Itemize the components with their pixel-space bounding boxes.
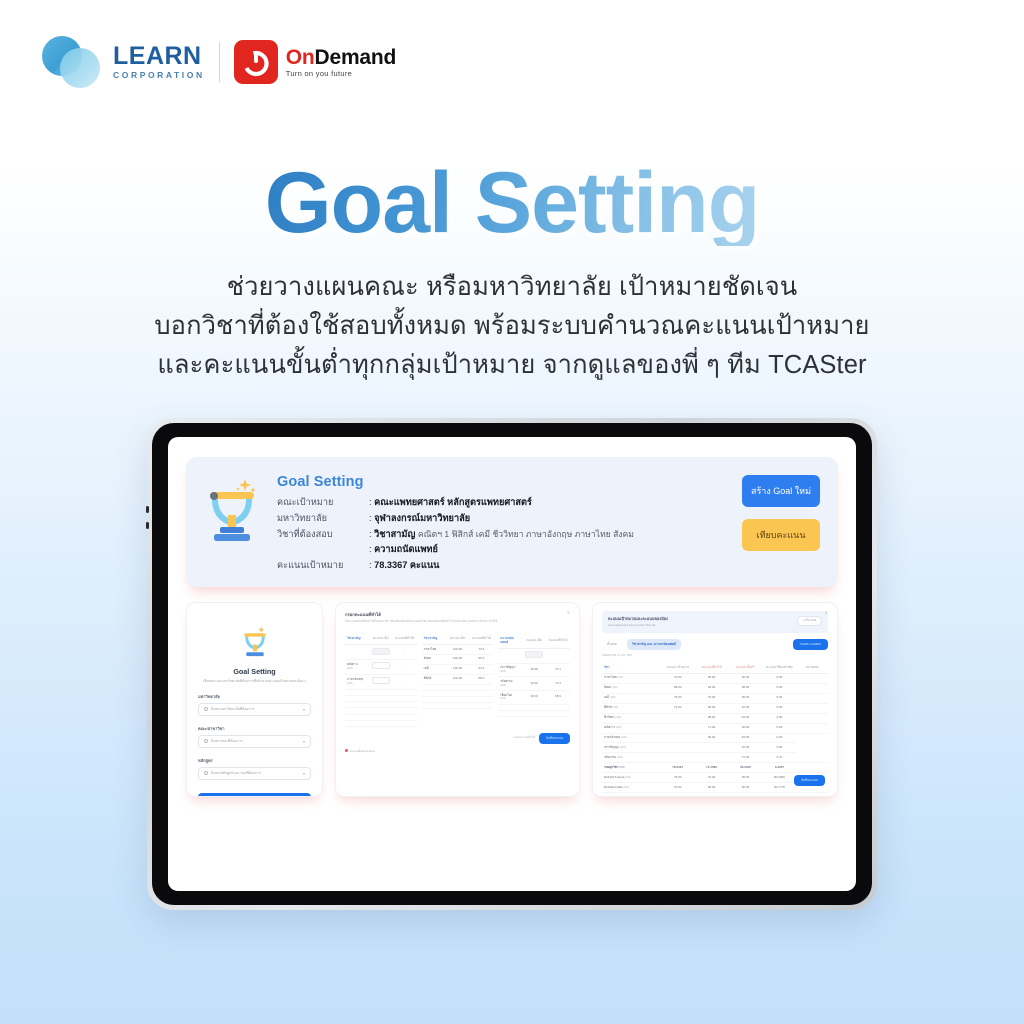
logo-divider <box>219 42 220 82</box>
subject-name: คณิตฯ 1 <box>604 725 615 729</box>
form-field-program-label: หลักสูตร <box>198 757 311 764</box>
score-group-2-name: วิชาสามัญ <box>422 634 446 644</box>
cell-need: 2.47 <box>762 753 796 763</box>
tablet-screen: Goal Setting คณะเป้าหมาย : คณะแพทยศาสตร์… <box>168 437 856 891</box>
table-row: จริยธรรม(100) 30.00 72.3 <box>498 677 570 691</box>
cell-target: 70.00 <box>661 673 695 683</box>
table-row <box>498 648 570 663</box>
goal-row-subjects-list: คณิตฯ 1 ฟิสิกส์ เคมี ชีววิทยา ภาษาอังกฤษ… <box>418 529 634 539</box>
score-got: 58.0 <box>469 674 493 684</box>
cell-min: 60.00 <box>729 673 763 683</box>
cell-need: 6.2287 <box>762 763 796 773</box>
cell-got: 69.00 <box>695 733 729 743</box>
cell-min: 58.00 <box>729 683 763 693</box>
search-icon <box>204 771 208 775</box>
table-row: ชีววิทยา (100) 68.00 64.00 4.00 <box>602 713 828 723</box>
program-select[interactable]: ค้นหาหลักสูตรและรอบที่ต้องการ ▾ <box>198 767 311 780</box>
table-row: เชื่อมโยง(100) 30.00 68.9 <box>498 691 570 705</box>
form-title: Goal Setting <box>198 667 311 676</box>
hero-line-2: บอกวิชาที่ต้องใช้สอบทั้งหมด พร้อมระบบคำน… <box>0 307 1024 346</box>
cell-target: 3.85 <box>661 793 695 798</box>
subject-name: สังคม <box>604 685 611 689</box>
create-goal-button[interactable]: สร้าง Goal ใหม่ <box>742 475 820 507</box>
form-field-faculty: คณะ/สาขาวิชา ค้นหาคณะที่ต้องการ ▾ <box>198 725 311 748</box>
score-input[interactable] <box>372 677 390 684</box>
cell-need: 60.7770 <box>762 783 796 793</box>
cell-min: 65.00 <box>729 773 763 783</box>
subject-full: (100) <box>612 706 618 709</box>
score-got: 70.1 <box>546 663 570 677</box>
score-got: 62.5 <box>469 664 493 674</box>
score-got: 70.5 <box>469 644 493 654</box>
score-group-1-name: วิชาสามัญ <box>345 634 369 644</box>
cell-need: 6.00 <box>762 703 796 713</box>
score-input[interactable] <box>525 651 543 658</box>
col-min: คะแนน ขั้นต่ำ <box>729 663 763 673</box>
table-row: คณิตฯ 1 (100) 71.00 66.00 5.00 <box>602 723 828 733</box>
subject-name: ฟิสิกส์ <box>422 674 446 684</box>
subject-full: (100) <box>616 716 622 719</box>
cell-min: 72.00 <box>729 753 763 763</box>
cell-got: 71.00 <box>695 723 729 733</box>
cell-target: 72.00 <box>661 703 695 713</box>
tab-common-and-aptitude[interactable]: วิชาสามัญ และ ความถนัดแพทย์ <box>627 639 681 650</box>
goal-row-subjects: วิชาที่ต้องสอบ : วิชาสามัญ คณิตฯ 1 ฟิสิก… <box>277 527 727 543</box>
subject-name: จริยธรรม <box>604 755 616 759</box>
col-got: คะแนน ที่ทำได้ <box>695 663 729 673</box>
table-row: - <box>345 644 417 659</box>
cell-got: 62.00 <box>695 683 729 693</box>
subject-full: (100) <box>623 786 629 789</box>
cell-need: 5.00 <box>762 693 796 703</box>
table-row: คะแนน GPAX (4.00) 3.85 3.70 3.50 81.40 7 <box>602 793 828 798</box>
screenshot-gallery: Goal Setting เลือกคณะและมหาวิทยาลัยที่ต้… <box>186 602 838 797</box>
table-row: ฟิสิกส์ 100.00 58.0 <box>422 674 494 684</box>
cell-need: 3.00 <box>762 743 796 753</box>
table-row: เชาว์ปัญญา (100) 70.00 3.00 <box>602 743 828 753</box>
score-got: - <box>393 659 417 674</box>
subject-full: (100) <box>616 726 622 729</box>
cell-target <box>661 753 695 763</box>
trophy-icon <box>240 625 270 661</box>
score-got: - <box>393 674 417 689</box>
subject-name: ฟิสิกส์ <box>604 705 612 709</box>
table-row: สังคม (100) 68.00 62.00 58.00 6.00 <box>602 683 828 693</box>
score-entry-hint: กรอกคะแนนที่ทำได้ <box>513 736 535 740</box>
cell-target: 75.00 <box>661 693 695 703</box>
table-row: คณิตฯ 1(100) - <box>345 659 417 674</box>
table-row <box>345 720 417 726</box>
table-row: เคมี (100) 75.00 70.00 65.00 5.00 <box>602 693 828 703</box>
score-full: 100.00 <box>446 654 470 664</box>
form-field-program: หลักสูตร ค้นหาหลักสูตรและรอบที่ต้องการ ▾ <box>198 757 311 780</box>
table-row: สังคม 100.00 65.0 <box>422 654 494 664</box>
subject-full: (100) <box>617 756 623 759</box>
cell-need: 5.00 <box>762 673 796 683</box>
ondemand-tagline: Turn on you future <box>286 70 396 78</box>
search-icon <box>204 739 208 743</box>
cell-min: 68.0000 <box>729 763 763 773</box>
goal-row-aptitude: : ความถนัดแพทย์ <box>277 542 727 558</box>
cell-min: 65.00 <box>729 693 763 703</box>
hero-line-3: และคะแนนขั้นต่ำทุกกลุ่มเป้าหมาย จากดูแลข… <box>0 346 1024 385</box>
cell-got: 70.00 <box>695 773 729 783</box>
score-full: 30.00 <box>522 663 546 677</box>
table-row: ฟิสิกส์ (100) 72.00 66.00 62.00 6.00 <box>602 703 828 713</box>
cell-got <box>695 743 729 753</box>
cell-target <box>661 713 695 723</box>
tablet-bezel: Goal Setting คณะเป้าหมาย : คณะแพทยศาสตร์… <box>152 423 872 905</box>
cell-min: 64.00 <box>729 713 763 723</box>
cell-need: 81.40 7 <box>762 793 796 798</box>
subject-full: (100) <box>617 676 623 679</box>
table-row: ภาษาอังกฤษ(100) - <box>345 674 417 689</box>
col-need: คะแนน ที่ต้องทำเพิ่ม <box>762 663 796 673</box>
legend-note: คะแนนขั้นต่ำของคณะ <box>350 750 375 753</box>
score-input[interactable] <box>372 662 390 669</box>
result-banner-subtitle: คณะแพทยศาสตร์ จุฬาลงกรณ์มหาวิทยาลัย <box>608 624 668 628</box>
score-group-3-col-full: คะแนน เต็ม <box>522 634 546 648</box>
save-score-button[interactable]: บันทึกคะแนน <box>539 733 570 744</box>
cell-target: 75.00 <box>661 773 695 783</box>
cell-min: 3.50 <box>729 793 763 798</box>
col-target: คะแนน เป้าหมาย <box>661 663 695 673</box>
goal-row-university-value: จุฬาลงกรณ์มหาวิทยาลัย <box>374 513 470 523</box>
score-group-2: วิชาสามัญ คะแนน เต็ม คะแนนที่ทำได้ ภาษาไ… <box>422 629 494 727</box>
cell-got: 66.00 <box>695 703 729 713</box>
subject-name: ภาษาอังกฤษ <box>347 677 363 681</box>
program-select-value: ค้นหาหลักสูตรและรอบที่ต้องการ <box>211 770 261 776</box>
two-circles-icon <box>42 36 104 88</box>
chevron-down-icon: ▾ <box>303 707 305 712</box>
score-group-2-col-full: คะแนน เต็ม <box>446 634 470 644</box>
subject-name: เคมี <box>604 695 609 699</box>
trophy-icon <box>202 475 262 549</box>
cell-need: 6.00 <box>762 683 796 693</box>
subject-name: ภาษาไทย <box>422 644 446 654</box>
subject-full: (100) <box>610 696 616 699</box>
score-group-2-col-got: คะแนนที่ทำได้ <box>469 634 493 644</box>
screenshot-goal-form[interactable]: Goal Setting เลือกคณะและมหาวิทยาลัยที่ต้… <box>186 602 323 797</box>
form-field-university-label: มหาวิทยาลัย <box>198 693 311 700</box>
goal-row-faculty-label: คณะเป้าหมาย <box>277 495 369 511</box>
goal-summary-card: Goal Setting คณะเป้าหมาย : คณะแพทยศาสตร์… <box>186 457 838 587</box>
subject-full: (100) <box>620 746 626 749</box>
hero-line-1: ช่วยวางแผนคณะ หรือมหาวิทยาลัย เป้าหมายชั… <box>0 268 1024 307</box>
screenshot-result[interactable]: ✕ คะแนนเป้าหมายและคะแนนของน้อง คณะแพทยศา… <box>592 602 838 797</box>
edit-goal-button[interactable]: แก้ไข Goal <box>797 616 822 626</box>
subject-full: (100) <box>500 684 506 687</box>
cell-need: 80.0000 <box>762 773 796 783</box>
subject-name: ภาษาไทย <box>604 675 617 679</box>
cell-got: 3.70 <box>695 793 729 798</box>
subject-name: เชาว์ปัญญา <box>500 665 515 669</box>
score-group-3-name: ความถนัดแพทย์ <box>498 634 522 648</box>
subject-name: จริยธรรม <box>500 679 512 683</box>
subject-full: (4.00) <box>623 796 629 797</box>
table-row: เชาว์ปัญญา(100) 30.00 70.1 <box>498 663 570 677</box>
score-entry-note: ใส่คะแนนสอบที่น้องทำได้ในแต่ละวิชา เพื่อ… <box>345 620 570 624</box>
screenshot-score-entry[interactable]: ✕ กรอกคะแนนที่ทำได้ ใส่คะแนนสอบที่น้องทำ… <box>335 602 580 797</box>
faculty-select-value: ค้นหาคณะที่ต้องการ <box>211 738 243 744</box>
goal-row-university: มหาวิทยาลัย : จุฬาลงกรณ์มหาวิทยาลัย <box>277 511 727 527</box>
cell-need: 6.00 <box>762 733 796 743</box>
subject-name: ภาษาอังกฤษ <box>604 735 620 739</box>
table-row: รวมทุกวิชา (900) 78.3367 72.1080 68.0000… <box>602 763 828 773</box>
subject-full: (100) <box>621 736 627 739</box>
cell-target <box>661 723 695 733</box>
cell-min: 62.00 <box>729 703 763 713</box>
goal-row-aptitude-value: ความถนัดแพทย์ <box>374 544 438 554</box>
page-title: Goal Setting <box>265 160 759 246</box>
goal-card-actions: สร้าง Goal ใหม่ เทียบคะแนน <box>742 472 820 551</box>
goal-row-target-score: คะแนนเป้าหมาย : 78.3367 คะแนน <box>277 558 727 574</box>
subject-full: (100) <box>500 670 506 673</box>
score-got: 68.9 <box>546 691 570 705</box>
subject-full: (100) <box>500 697 506 700</box>
logo-bar: LEARN CORPORATION OnDemand Turn on you f… <box>42 36 396 88</box>
cell-target <box>661 743 695 753</box>
table-row: จริยธรรม (100) 72.00 2.47 <box>602 753 828 763</box>
faculty-select[interactable]: ค้นหาคณะที่ต้องการ ▾ <box>198 735 311 748</box>
result-save-button[interactable]: บันทึกคะแนน <box>794 775 825 786</box>
tablet-volume-button-down <box>146 522 149 529</box>
score-full: 100.00 <box>446 674 470 684</box>
cell-min: 60.00 <box>729 783 763 793</box>
cell-need: 5.00 <box>762 723 796 733</box>
result-banner: คะแนนเป้าหมายและคะแนนของน้อง คณะแพทยศาสต… <box>602 611 828 633</box>
subject-full: (100) <box>347 682 353 685</box>
table-row <box>422 703 494 709</box>
score-got: - <box>393 644 417 659</box>
cell-got: 66.00 <box>695 783 729 793</box>
subject-full: (100) <box>347 667 353 670</box>
compare-score-button[interactable]: เทียบคะแนน <box>742 519 820 551</box>
subject-full: (900) <box>619 766 625 769</box>
university-select[interactable]: ค้นหามหาวิทยาลัยที่ต้องการ ▾ <box>198 703 311 716</box>
subject-name: คณิตฯ 1 <box>347 662 358 666</box>
ondemand-logo: OnDemand Turn on you future <box>234 40 396 84</box>
learn-logo-sub: CORPORATION <box>113 71 205 80</box>
cell-target: 70.00 <box>661 783 695 793</box>
tablet-mockup: Goal Setting คณะเป้าหมาย : คณะแพทยศาสตร์… <box>147 418 877 910</box>
search-icon <box>204 707 208 711</box>
score-full: 100.00 <box>446 664 470 674</box>
cell-got: 72.1080 <box>695 763 729 773</box>
score-full: 100.00 <box>446 644 470 654</box>
subject-name: ชีววิทยา <box>604 715 615 719</box>
table-row: ภาษาไทย 100.00 70.5 <box>422 644 494 654</box>
university-select-value: ค้นหามหาวิทยาลัยที่ต้องการ <box>211 706 255 712</box>
score-full: 30.00 <box>522 691 546 705</box>
tab-all[interactable]: ทั้งหมด <box>602 639 622 650</box>
subject-name: สังคม <box>422 654 446 664</box>
goal-row-target-score-label: คะแนนเป้าหมาย <box>277 558 369 574</box>
score-entry-footer: กรอกคะแนนที่ทำได้ บันทึกคะแนน <box>345 733 570 744</box>
form-field-faculty-label: คณะ/สาขาวิชา <box>198 725 311 732</box>
result-tabs: ทั้งหมด วิชาสามัญ และ ความถนัดแพทย์ กรอก… <box>602 639 828 650</box>
col-subject: วิชา <box>602 663 661 673</box>
subject-full: (100) <box>612 686 618 689</box>
goal-details: Goal Setting คณะเป้าหมาย : คณะแพทยศาสตร์… <box>277 472 727 574</box>
learn-logo: LEARN CORPORATION <box>42 36 205 88</box>
hero-description: ช่วยวางแผนคณะ หรือมหาวิทยาลัย เป้าหมายชั… <box>0 268 1024 384</box>
chevron-down-icon: ▾ <box>303 771 305 776</box>
cell-min: 66.00 <box>729 723 763 733</box>
ondemand-name-on: On <box>286 46 315 69</box>
enter-score-button[interactable]: กรอกคะแนนสอบ <box>793 639 828 650</box>
cell-got: 65.00 <box>695 673 729 683</box>
chevron-down-icon: ▾ <box>303 739 305 744</box>
score-group-1: วิชาสามัญ คะแนน เต็ม คะแนนที่ทำได้ - <box>345 629 417 727</box>
cell-min: 63.00 <box>729 733 763 743</box>
hero-section: Goal Setting ช่วยวางแผนคณะ หรือมหาวิทยาล… <box>0 160 1024 384</box>
learn-logo-name: LEARN <box>113 44 205 69</box>
table-row: ภาษาอังกฤษ (100) 69.00 63.00 6.00 <box>602 733 828 743</box>
score-group-1-col-got: คะแนนที่ทำได้ <box>393 634 417 644</box>
score-got: 65.0 <box>469 654 493 664</box>
cell-got: 70.00 <box>695 693 729 703</box>
form-submit-button[interactable]: คำนวณคะแนน <box>198 793 311 798</box>
goal-row-subjects-label: วิชาที่ต้องสอบ <box>277 527 369 543</box>
cell-got: 68.00 <box>695 713 729 723</box>
score-full: 30.00 <box>522 677 546 691</box>
subject-name: คะแนน T-score <box>604 775 625 779</box>
table-row <box>498 710 570 716</box>
score-entry-heading: กรอกคะแนนที่ทำได้ <box>345 611 570 618</box>
score-input[interactable] <box>372 648 390 655</box>
score-group-3-col-got: คะแนนที่ทำได้ <box>546 634 570 648</box>
ondemand-name-demand: Demand <box>315 46 397 69</box>
cell-min: 70.00 <box>729 743 763 753</box>
goal-row-aptitude-label <box>277 542 369 558</box>
result-caption: อัปเดตล่าสุด 12 ม.ค. 2567 <box>602 654 828 658</box>
subject-name: เคมี <box>422 664 446 674</box>
score-entry-columns: วิชาสามัญ คะแนน เต็ม คะแนนที่ทำได้ - <box>345 629 570 727</box>
subject-name: เชื่อมโยง <box>500 693 512 697</box>
subject-full: (100) <box>625 776 631 779</box>
form-subtitle: เลือกคณะและมหาวิทยาลัยที่ต้องการเพื่อคำน… <box>198 679 311 683</box>
cell-target: 78.3367 <box>661 763 695 773</box>
goal-row-subjects-group: วิชาสามัญ <box>374 529 415 539</box>
score-entry-legend: คะแนนขั้นต่ำของคณะ <box>345 749 570 754</box>
table-row: เคมี 100.00 62.5 <box>422 664 494 674</box>
subject-name: คะแนน GPAX <box>604 795 623 797</box>
cell-got <box>695 753 729 763</box>
tablet-volume-button-up <box>146 506 149 513</box>
subject-name: รวมทุกวิชา <box>604 765 618 769</box>
table-row: ภาษาไทย (100) 70.00 65.00 60.00 5.00 <box>602 673 828 683</box>
cell-need: 4.00 <box>762 713 796 723</box>
power-button-icon <box>234 40 278 84</box>
cell-target <box>661 733 695 743</box>
close-icon[interactable]: ✕ <box>567 610 570 615</box>
form-field-university: มหาวิทยาลัย ค้นหามหาวิทยาลัยที่ต้องการ ▾ <box>198 693 311 716</box>
subject-name: คะแนน O-Net <box>604 785 623 789</box>
subject-name: เชาว์ปัญญา <box>604 745 619 749</box>
col-remark: หมายเหตุ <box>796 663 828 673</box>
score-group-1-col-full: คะแนน เต็ม <box>369 634 393 644</box>
cell-target: 68.00 <box>661 683 695 693</box>
goal-row-faculty: คณะเป้าหมาย : คณะแพทยศาสตร์ หลักสูตรแพทย… <box>277 495 727 511</box>
close-icon[interactable]: ✕ <box>825 610 828 615</box>
goal-row-university-label: มหาวิทยาลัย <box>277 511 369 527</box>
result-banner-title: คะแนนเป้าหมายและคะแนนของน้อง <box>608 616 668 622</box>
goal-card-title: Goal Setting <box>277 474 727 490</box>
goal-row-target-score-value: 78.3367 คะแนน <box>374 560 439 570</box>
score-group-3: ความถนัดแพทย์ คะแนน เต็ม คะแนนที่ทำได้ <box>498 629 570 727</box>
score-got: 72.3 <box>546 677 570 691</box>
goal-row-faculty-value: คณะแพทยศาสตร์ หลักสูตรแพทยศาสตร์ <box>374 497 532 507</box>
